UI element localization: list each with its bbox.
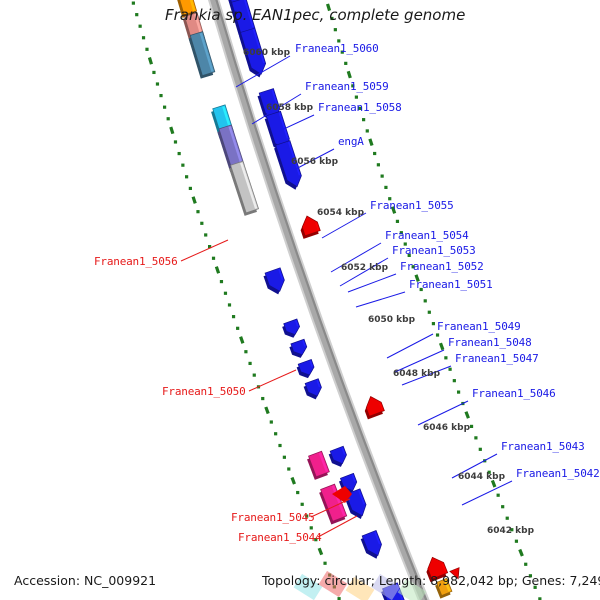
right-arc-minor-tick [167, 117, 170, 120]
left-arc-minor-tick [334, 28, 337, 31]
gene-feature[interactable] [360, 530, 386, 561]
gene-label[interactable]: Franean1_5050 [162, 385, 246, 398]
right-arc-major-tick [319, 548, 322, 555]
left-arc-major-tick [440, 343, 442, 350]
left-arc-minor-tick [506, 517, 509, 520]
left-arc-minor-tick [377, 163, 380, 166]
left-arc-minor-tick [497, 494, 500, 497]
left-arc-minor-tick [515, 540, 518, 543]
gene-body[interactable] [309, 451, 330, 477]
right-arc-major-tick [266, 407, 268, 414]
scale-tick-label: 6042 kbp [487, 526, 535, 536]
scale-tick-label: 6052 kbp [341, 263, 389, 273]
right-arc-minor-tick [189, 187, 192, 190]
genome-map-canvas[interactable]: Frankia sp. EAN1pec, complete genome 606… [0, 0, 600, 600]
right-arc-minor-tick [156, 82, 159, 85]
accession-label: Accession: NC_009921 [14, 573, 156, 588]
right-arc-minor-tick [236, 327, 239, 330]
right-arc-major-tick [149, 58, 151, 65]
left-arc-minor-tick [355, 96, 358, 99]
right-arc-major-tick [171, 127, 173, 134]
right-arc-major-tick [292, 478, 294, 485]
left-arc-minor-tick [453, 379, 456, 382]
right-arc-minor-tick [278, 444, 281, 447]
left-arc-minor-tick [457, 390, 460, 393]
right-arc-minor-tick [178, 152, 181, 155]
gene-feature[interactable] [188, 32, 216, 79]
right-arc-minor-tick [232, 315, 235, 318]
gene-feature[interactable] [328, 446, 350, 469]
gene-label[interactable]: Franean1_5058 [318, 101, 402, 114]
scale-tick-label: 6048 kbp [393, 369, 441, 379]
left-arc-minor-tick [384, 186, 387, 189]
gene-label[interactable]: Franean1_5054 [385, 229, 469, 242]
left-arc-minor-tick [396, 220, 399, 223]
gene-label[interactable]: Franean1_5045 [231, 511, 315, 524]
scale-tick-label: 6046 kbp [423, 423, 471, 433]
right-arc-minor-tick [244, 350, 247, 353]
left-arc-major-tick [370, 139, 372, 146]
gene-feature[interactable] [289, 339, 310, 360]
label-leader-line [462, 481, 512, 505]
label-leader-line [181, 240, 228, 261]
right-arc-minor-tick [220, 280, 223, 283]
right-arc-minor-tick [181, 164, 184, 167]
gene-label[interactable]: Franean1_5049 [437, 320, 521, 333]
gene-feature[interactable] [303, 379, 325, 402]
left-arc-minor-tick [479, 448, 482, 451]
gene-label[interactable]: Franean1_5055 [370, 199, 454, 212]
right-arc-minor-tick [283, 456, 286, 459]
scale-tick-label: 6050 kbp [368, 315, 416, 325]
gene-feature[interactable] [306, 451, 330, 480]
right-arc-major-tick [193, 197, 195, 204]
right-arc-minor-tick [163, 106, 166, 109]
gene-label[interactable]: Franean1_5044 [238, 531, 322, 544]
left-arc-minor-tick [428, 311, 431, 314]
gene-label[interactable]: Franean1_5051 [409, 278, 493, 291]
label-leader-line [356, 292, 405, 307]
right-arc-minor-tick [132, 2, 135, 5]
left-arc-minor-tick [470, 425, 473, 428]
right-arc-minor-tick [274, 432, 277, 435]
right-arc-minor-tick [323, 562, 326, 565]
right-arc-minor-tick [228, 303, 231, 306]
right-arc-minor-tick [212, 257, 215, 260]
right-arc-minor-tick [253, 374, 256, 377]
left-arc-minor-tick [448, 368, 451, 371]
scale-tick-label: 6060 kbp [243, 48, 291, 58]
left-arc-minor-tick [474, 436, 477, 439]
right-arc-major-tick [216, 267, 218, 274]
left-arc-minor-tick [381, 175, 384, 178]
right-arc-minor-tick [185, 175, 188, 178]
right-arc-major-tick [241, 337, 243, 344]
scale-tick-label: 6044 kbp [458, 472, 506, 482]
left-arc-minor-tick [436, 333, 439, 336]
left-arc-minor-tick [424, 299, 427, 302]
right-arc-minor-tick [196, 210, 199, 213]
right-arc-minor-tick [261, 397, 264, 400]
gene-label[interactable]: Franean1_5046 [472, 387, 556, 400]
right-arc-minor-tick [159, 94, 162, 97]
right-arc-minor-tick [142, 36, 145, 39]
right-arc-minor-tick [152, 71, 155, 74]
gene-label[interactable]: Franean1_5042 [516, 467, 600, 480]
gene-label[interactable]: Franean1_5048 [448, 336, 532, 349]
left-arc-minor-tick [366, 129, 369, 132]
right-arc-minor-tick [135, 13, 138, 16]
left-arc-minor-tick [344, 62, 347, 65]
left-arc-minor-tick [373, 152, 376, 155]
right-arc-minor-tick [287, 467, 290, 470]
gene-feature[interactable] [361, 394, 385, 420]
left-arc-major-tick [466, 412, 468, 419]
left-arc-minor-tick [524, 563, 527, 566]
gene-label[interactable]: Franean1_5047 [455, 352, 539, 365]
gene-feature[interactable] [228, 161, 259, 216]
label-leader-line [418, 401, 468, 425]
right-arc-minor-tick [310, 526, 313, 529]
label-leader-line [249, 370, 296, 391]
gene-label[interactable]: engA [338, 135, 364, 148]
left-arc-minor-tick [444, 356, 447, 359]
gene-label[interactable]: Franean1_5043 [501, 440, 585, 453]
gene-label[interactable]: Franean1_5056 [94, 255, 178, 268]
gene-label[interactable]: Franean1_5059 [305, 80, 389, 93]
scale-tick-label: 6054 kbp [317, 208, 365, 218]
gene-feature[interactable] [296, 359, 317, 380]
gene-label[interactable]: Franean1_5053 [392, 244, 476, 257]
genome-map-viewer[interactable]: Frankia sp. EAN1pec, complete genome 606… [0, 0, 600, 600]
label-leader-line [387, 334, 433, 358]
left-arc-major-tick [348, 71, 350, 78]
right-arc-minor-tick [270, 420, 273, 423]
scale-tick-label: 6056 kbp [291, 157, 339, 167]
page-title: Frankia sp. EAN1pec, complete genome [165, 6, 465, 24]
scale-tick-labels: 6060 kbp6058 kbp6056 kbp6054 kbp6052 kbp… [243, 48, 535, 536]
left-arc-minor-tick [501, 505, 504, 508]
gene-label[interactable]: Franean1_5060 [295, 42, 379, 55]
right-arc-minor-tick [200, 222, 203, 225]
gene-label[interactable]: Franean1_5052 [400, 260, 484, 273]
right-arc-minor-tick [174, 140, 177, 143]
gene-label-layer[interactable]: Franean1_5060Franean1_5059Franean1_5058e… [94, 42, 600, 544]
right-arc-minor-tick [139, 25, 142, 28]
summary-label: Topology: circular; Length: 8,982,042 bp… [261, 573, 600, 588]
gene-feature[interactable] [281, 319, 302, 340]
left-arc-minor-tick [432, 322, 435, 325]
scale-tick-label: 6058 kbp [266, 103, 314, 113]
right-arc-minor-tick [224, 292, 227, 295]
right-arc-minor-tick [296, 491, 299, 494]
right-arc-minor-tick [204, 233, 207, 236]
right-arc-minor-tick [145, 48, 148, 51]
left-arc-major-tick [520, 549, 523, 555]
right-arc-minor-tick [248, 362, 251, 365]
gene-feature[interactable] [263, 268, 288, 297]
right-arc-minor-tick [301, 503, 304, 506]
left-arc-minor-tick [362, 118, 365, 121]
